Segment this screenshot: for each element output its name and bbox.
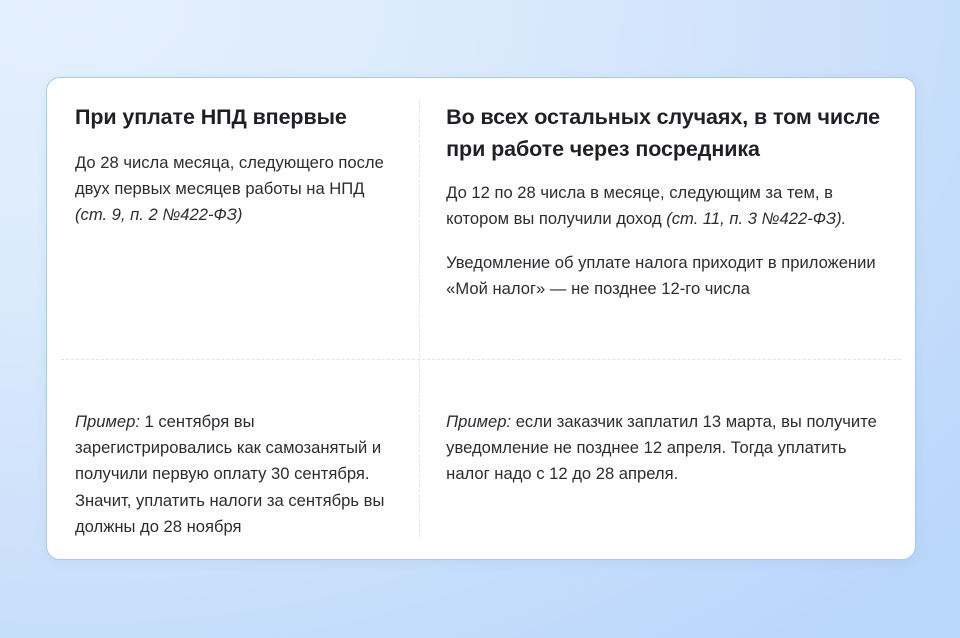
- right-bottom-block: Пример: если заказчик заплатил 13 марта,…: [446, 383, 885, 488]
- right-column-body: До 12 по 28 числа в месяце, следующим за…: [446, 180, 885, 232]
- right-top-block: Во всех остальных случаях, в том числе п…: [446, 102, 885, 383]
- info-card: При уплате НПД впервые До 28 числа месяц…: [46, 77, 916, 560]
- right-column-heading: Во всех остальных случаях, в том числе п…: [446, 102, 885, 166]
- right-body-citation: (ст. 11, п. 3 №422-ФЗ).: [666, 209, 846, 228]
- column-left: При уплате НПД впервые До 28 числа месяц…: [47, 78, 418, 559]
- right-example: Пример: если заказчик заплатил 13 марта,…: [446, 409, 885, 488]
- right-example-label: Пример:: [446, 412, 511, 431]
- left-top-block: При уплате НПД впервые До 28 числа месяц…: [75, 102, 390, 383]
- right-column-notice: Уведомление об уплате налога приходит в …: [446, 250, 885, 302]
- page-root: При уплате НПД впервые До 28 числа месяц…: [0, 0, 960, 638]
- left-example: Пример: 1 сентября вы зарегистрировались…: [75, 409, 390, 540]
- left-bottom-block: Пример: 1 сентября вы зарегистрировались…: [75, 383, 390, 540]
- card-columns: При уплате НПД впервые До 28 числа месяц…: [47, 78, 915, 559]
- column-right: Во всех остальных случаях, в том числе п…: [418, 78, 915, 559]
- left-column-body: До 28 числа месяца, следующего после дву…: [75, 150, 390, 229]
- left-body-citation: (ст. 9, п. 2 №422-ФЗ): [75, 205, 242, 224]
- left-column-heading: При уплате НПД впервые: [75, 102, 390, 134]
- left-body-plain: До 28 числа месяца, следующего после дву…: [75, 153, 384, 198]
- right-example-text: если заказчик заплатил 13 марта, вы полу…: [446, 412, 877, 483]
- left-example-label: Пример:: [75, 412, 140, 431]
